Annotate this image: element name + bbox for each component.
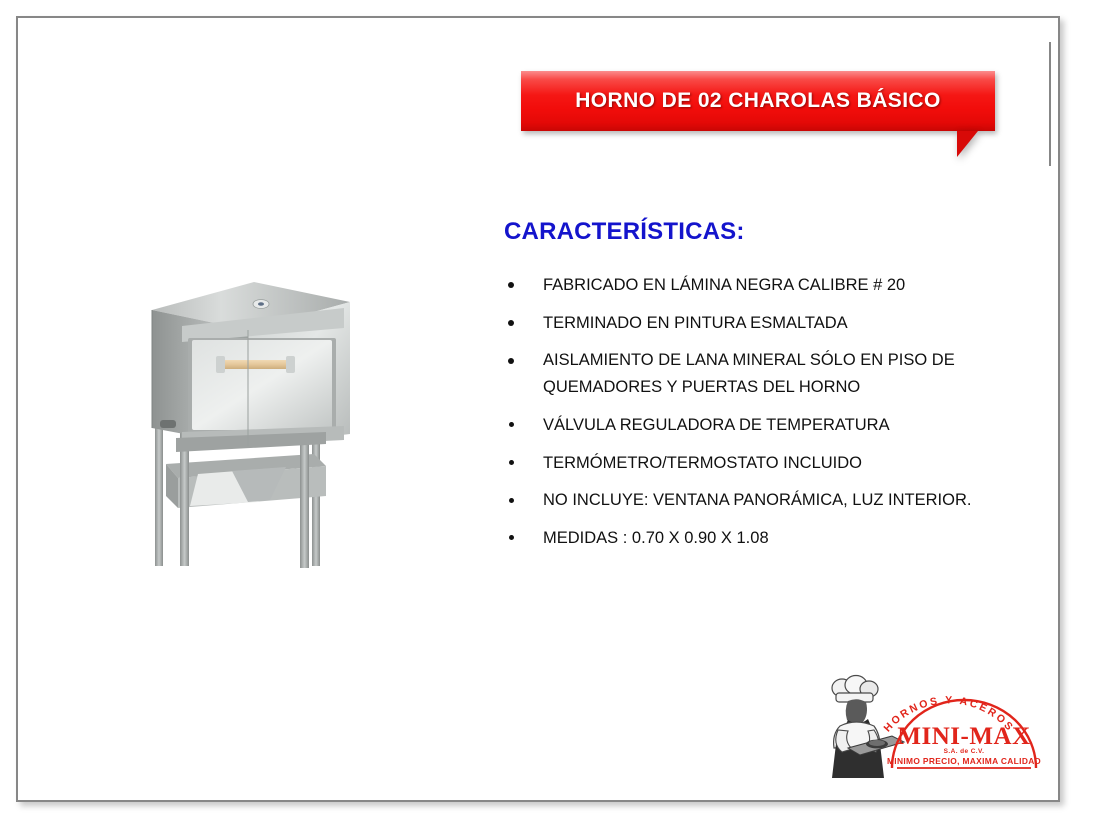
- feature-item: TERMÓMETRO/TERMOSTATO INCLUIDO: [504, 450, 1044, 477]
- feature-item-label: NO INCLUYE: VENTANA PANORÁMICA, LUZ INTE…: [543, 491, 971, 509]
- bullet-icon: [509, 535, 514, 540]
- feature-item: MEDIDAS : 0.70 X 0.90 X 1.08: [504, 525, 1044, 552]
- vertical-divider-rule: [1049, 42, 1051, 166]
- company-logo: HORNOS Y ACEROS MINI-MAX S.A. de C.V. MI…: [812, 668, 1042, 780]
- bullet-icon: [509, 460, 514, 465]
- banner-title-text: HORNO DE 02 CHAROLAS BÁSICO: [521, 71, 995, 131]
- bullet-icon: [508, 320, 514, 326]
- bullet-icon: [508, 358, 514, 364]
- feature-item-label: AISLAMIENTO DE LANA MINERAL SÓLO EN PISO…: [543, 351, 955, 396]
- feature-item: FABRICADO EN LÁMINA NEGRA CALIBRE # 20: [504, 272, 1044, 299]
- feature-item-label: TERMÓMETRO/TERMOSTATO INCLUIDO: [543, 454, 862, 472]
- features-section: CARACTERÍSTICAS: FABRICADO EN LÁMINA NEG…: [504, 218, 1044, 563]
- feature-item-label: VÁLVULA REGULADORA DE TEMPERATURA: [543, 416, 890, 434]
- product-image: [136, 268, 368, 570]
- feature-item-label: MEDIDAS : 0.70 X 0.90 X 1.08: [543, 529, 769, 547]
- oven-illustration: [136, 268, 368, 570]
- logo-slogan-text: MINIMO PRECIO, MAXIMA CALIDAD: [887, 756, 1041, 766]
- mini-max-logo-graphic: HORNOS Y ACEROS MINI-MAX S.A. de C.V. MI…: [812, 668, 1042, 780]
- logo-brand-text: MINI-MAX: [897, 723, 1030, 750]
- slide-canvas: HORNO DE 02 CHAROLAS BÁSICO: [0, 0, 1100, 820]
- feature-item-label: TERMINADO EN PINTURA ESMALTADA: [543, 314, 848, 332]
- bullet-icon: [509, 498, 514, 503]
- bullet-icon: [508, 282, 514, 288]
- feature-item-label: FABRICADO EN LÁMINA NEGRA CALIBRE # 20: [543, 276, 905, 294]
- feature-item: TERMINADO EN PINTURA ESMALTADA: [504, 310, 1044, 337]
- features-list: FABRICADO EN LÁMINA NEGRA CALIBRE # 20 T…: [504, 272, 1044, 552]
- features-heading: CARACTERÍSTICAS:: [504, 218, 1044, 246]
- feature-item: AISLAMIENTO DE LANA MINERAL SÓLO EN PISO…: [504, 347, 1044, 400]
- feature-item: VÁLVULA REGULADORA DE TEMPERATURA: [504, 412, 1044, 439]
- banner-tail-shape: [957, 131, 999, 157]
- title-banner: HORNO DE 02 CHAROLAS BÁSICO: [521, 71, 995, 131]
- bullet-icon: [509, 422, 514, 427]
- logo-legal-form-text: S.A. de C.V.: [944, 748, 985, 755]
- feature-item: NO INCLUYE: VENTANA PANORÁMICA, LUZ INTE…: [504, 487, 1044, 514]
